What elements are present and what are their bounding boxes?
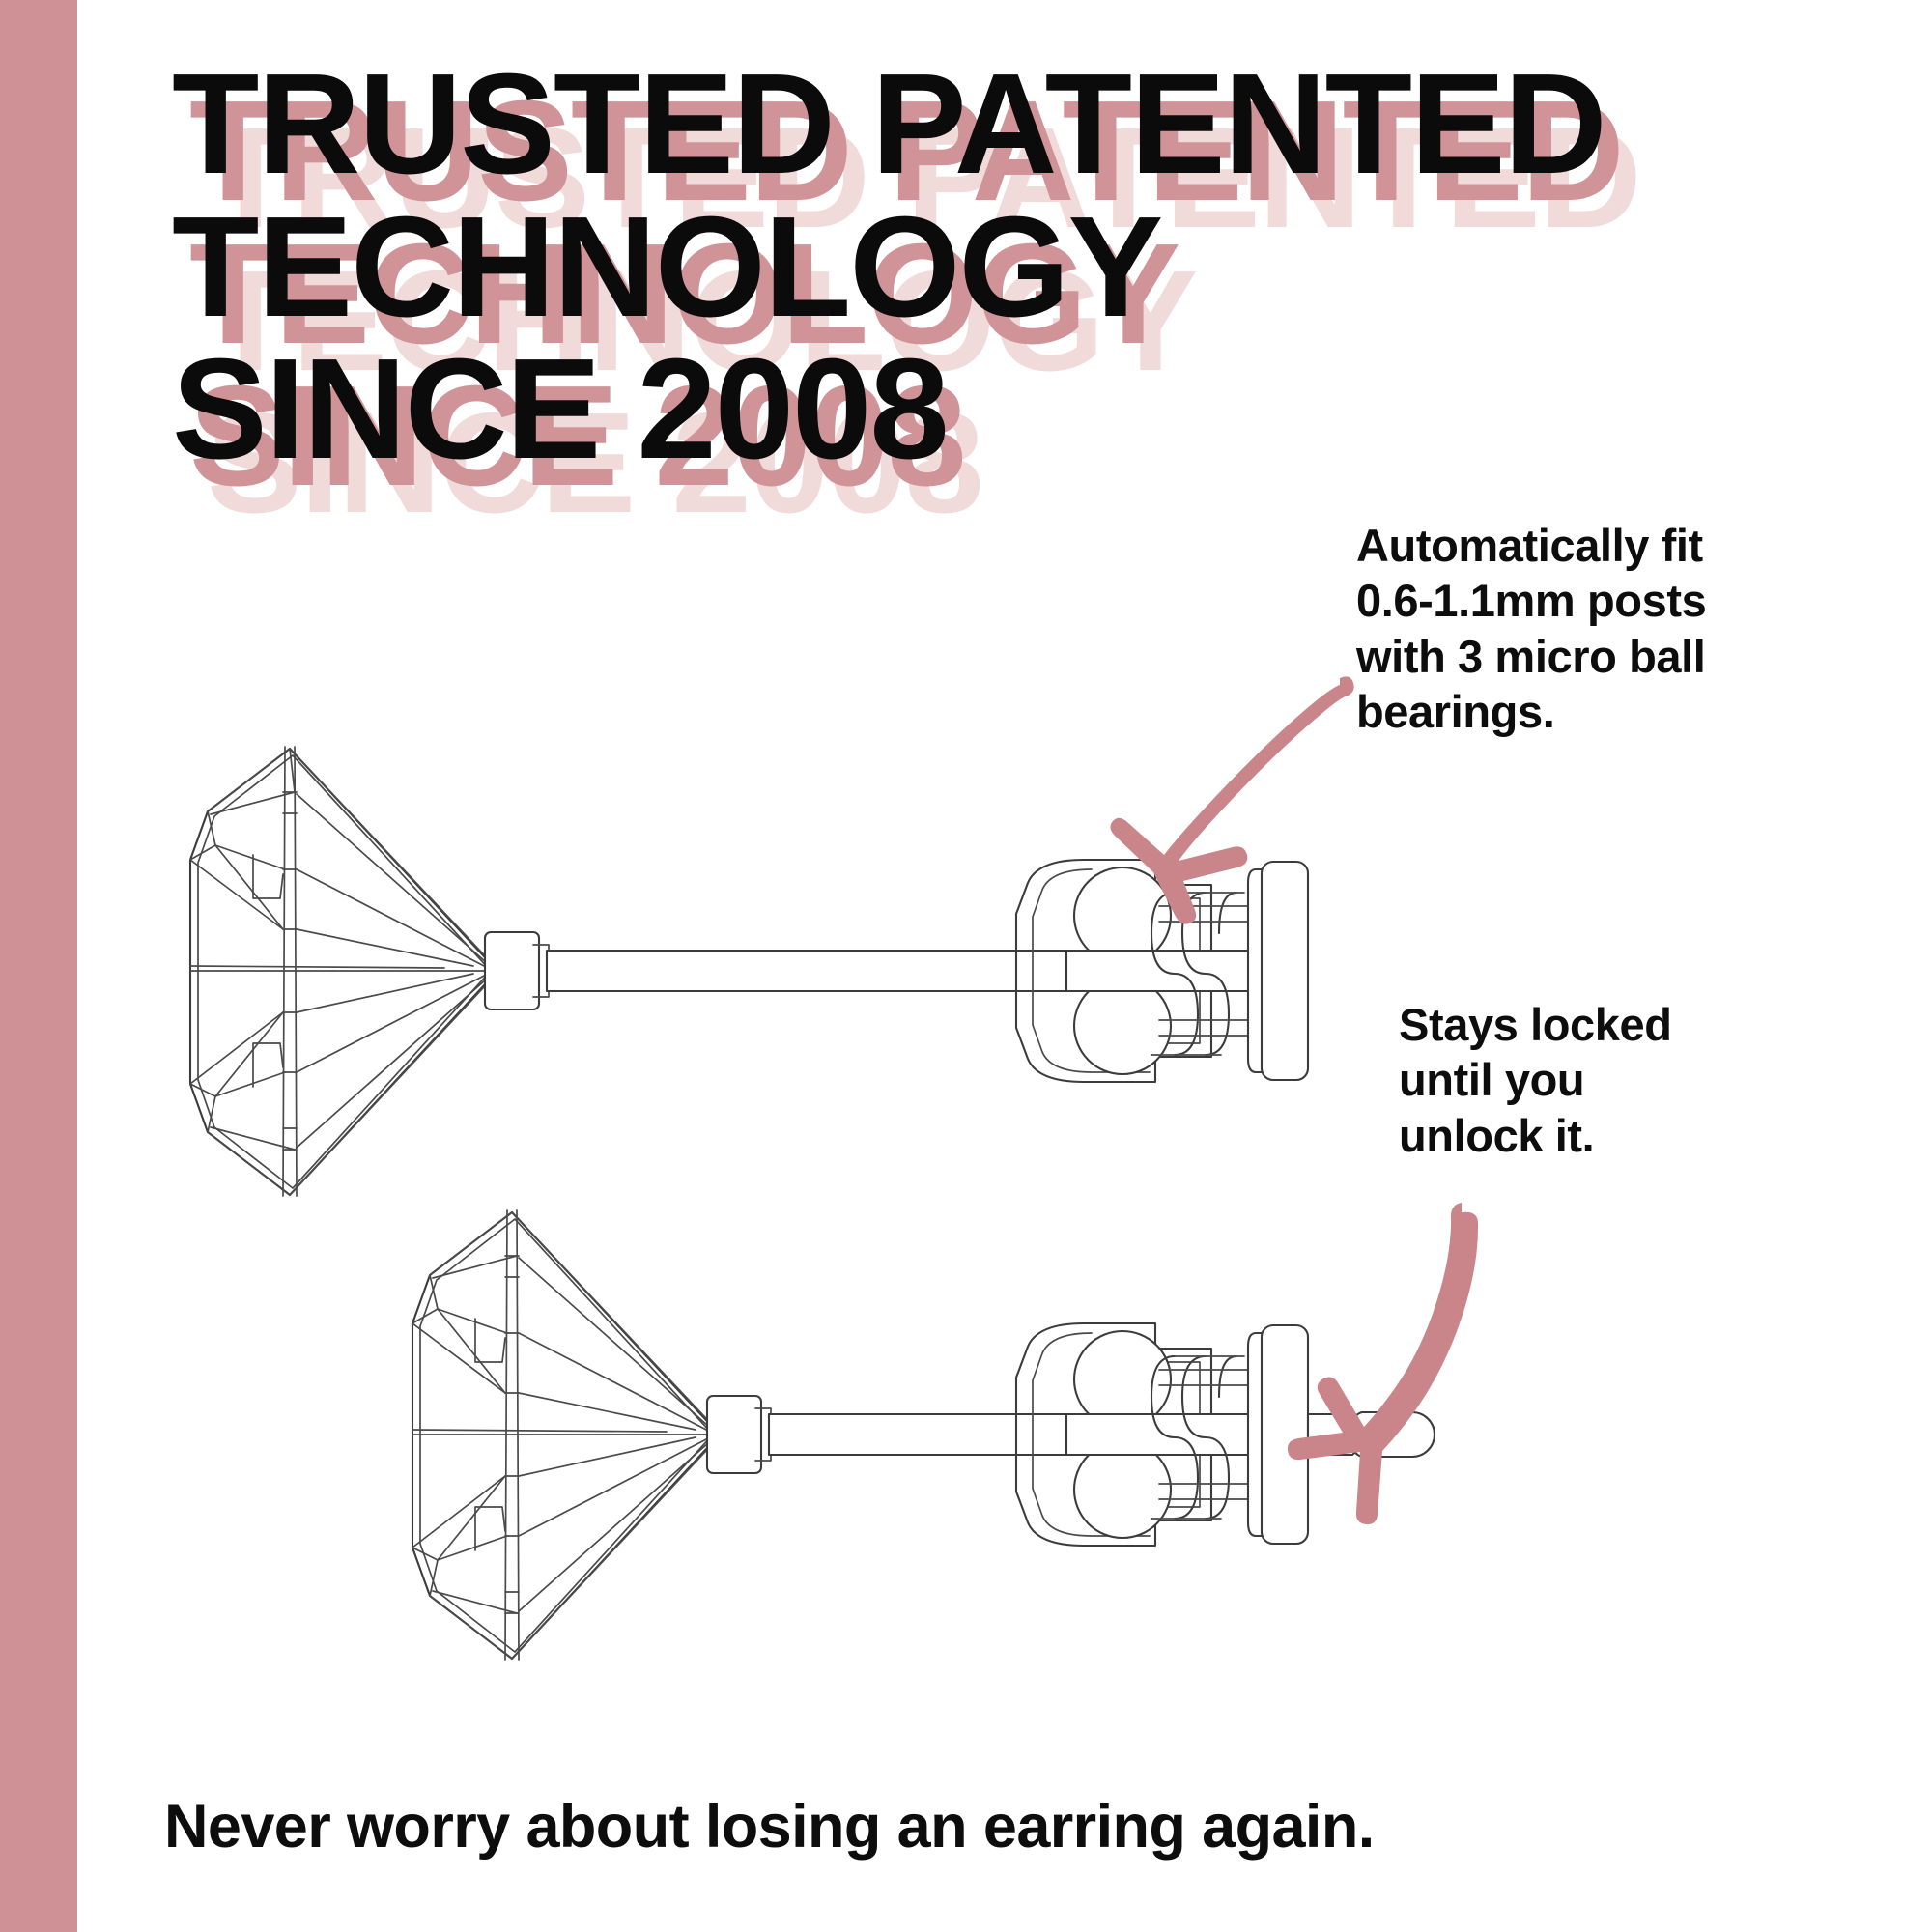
- earring-post: [547, 951, 1101, 991]
- round-brilliant-diamond-side-view: [190, 747, 497, 1196]
- locking-back-cap: [1262, 862, 1308, 1080]
- curved-arrow-down-left-icon: [1288, 1203, 1478, 1524]
- headline-line-2-text: TECHNOLOGY: [172, 187, 1161, 347]
- headline-line-3-text: SINCE 2008: [172, 329, 948, 489]
- footer-caption: Never worry about losing an earring agai…: [164, 1792, 1375, 1861]
- diamond-stud-earring-locked: [190, 676, 1354, 1196]
- post-collar: [707, 1396, 771, 1473]
- post-collar: [485, 932, 549, 1009]
- headline-line-1-text: TRUSTED PATENTED: [172, 44, 1605, 204]
- locking-back-cap: [1262, 1325, 1308, 1544]
- round-brilliant-diamond-side-view: [412, 1210, 720, 1660]
- headline-line-1: TRUSTED PATENTED TRUSTED PATENTED TRUSTE…: [172, 58, 1621, 191]
- diamond-stud-earring-unlocked: [412, 1203, 1478, 1660]
- earring-post: [769, 1414, 1101, 1455]
- promo-graphic: TRUSTED PATENTED TRUSTED PATENTED TRUSTE…: [0, 0, 1932, 1932]
